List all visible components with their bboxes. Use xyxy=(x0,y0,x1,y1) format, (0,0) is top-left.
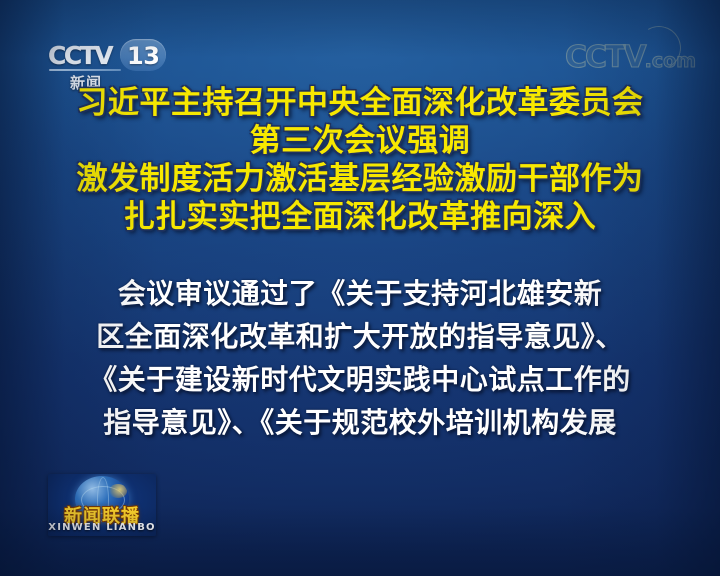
body-text-line: 指导意见》、《关于规范校外培训机构发展 xyxy=(0,401,720,444)
channel-bug: CCTV 13 新闻 xyxy=(48,40,166,88)
cctv-brand-text: CCTV xyxy=(48,41,111,70)
body-text-block: 会议审议通过了《关于支持河北雄安新 区全面深化改革和扩大开放的指导意见》、 《关… xyxy=(0,272,720,444)
program-name-en: XINWEN LIANBO xyxy=(48,522,156,533)
headline-line: 第三次会议强调 xyxy=(0,122,720,160)
cctv-com-watermark: CCTV.com xyxy=(565,40,696,80)
headline-line: 习近平主持召开中央全面深化改革委员会 xyxy=(0,84,720,122)
body-text-line: 区全面深化改革和扩大开放的指导意见》、 xyxy=(0,315,720,358)
cctv-underline xyxy=(49,69,121,71)
channel-number-text: 13 xyxy=(127,42,159,70)
broadcast-screen: CCTV 13 新闻 CCTV.com 习近平主持召开中央全面深化改革委员会 第… xyxy=(0,0,720,576)
globe-glint xyxy=(109,484,127,498)
watermark-arc-icon xyxy=(632,21,686,75)
headline-block: 习近平主持召开中央全面深化改革委员会 第三次会议强调 激发制度活力激活基层经验激… xyxy=(0,84,720,236)
watermark-brand: CCTV xyxy=(565,40,645,75)
watermark-text: CCTV.com xyxy=(565,40,696,75)
body-text-line: 《关于建设新时代文明实践中心试点工作的 xyxy=(0,358,720,401)
watermark-suffix: .com xyxy=(645,50,696,72)
body-text-line: 会议审议通过了《关于支持河北雄安新 xyxy=(0,272,720,315)
headline-line: 激发制度活力激活基层经验激励干部作为 xyxy=(0,160,720,198)
program-logo: 新闻联播 XINWEN LIANBO xyxy=(48,474,156,536)
headline-line: 扎扎实实把全面深化改革推向深入 xyxy=(0,198,720,236)
